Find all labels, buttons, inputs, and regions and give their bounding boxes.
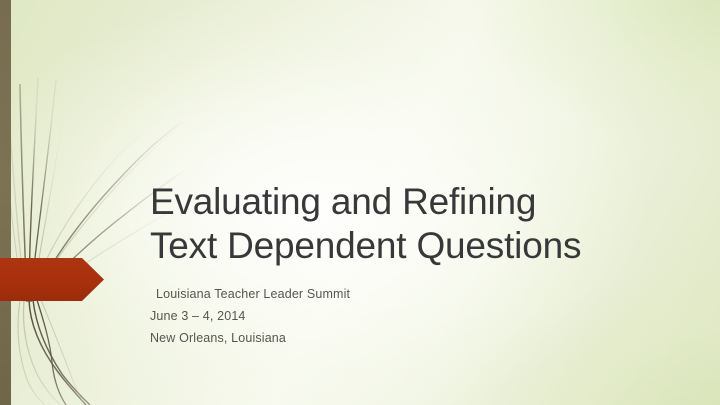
subtitle-line-location: New Orleans, Louisiana (150, 327, 630, 349)
slide-title-line-2: Text Dependent Questions (150, 224, 690, 268)
subtitle-line-date: June 3 – 4, 2014 (150, 305, 630, 327)
slide-title: Evaluating and Refining Text Dependent Q… (150, 180, 690, 268)
left-olive-bar (0, 0, 11, 405)
subtitle-line-event: Louisiana Teacher Leader Summit (150, 283, 630, 305)
slide-subtitle: Louisiana Teacher Leader Summit June 3 –… (150, 283, 630, 349)
slide-title-line-1: Evaluating and Refining (150, 180, 690, 224)
presentation-slide: Evaluating and Refining Text Dependent Q… (0, 0, 720, 405)
red-arrow-banner (0, 258, 104, 301)
